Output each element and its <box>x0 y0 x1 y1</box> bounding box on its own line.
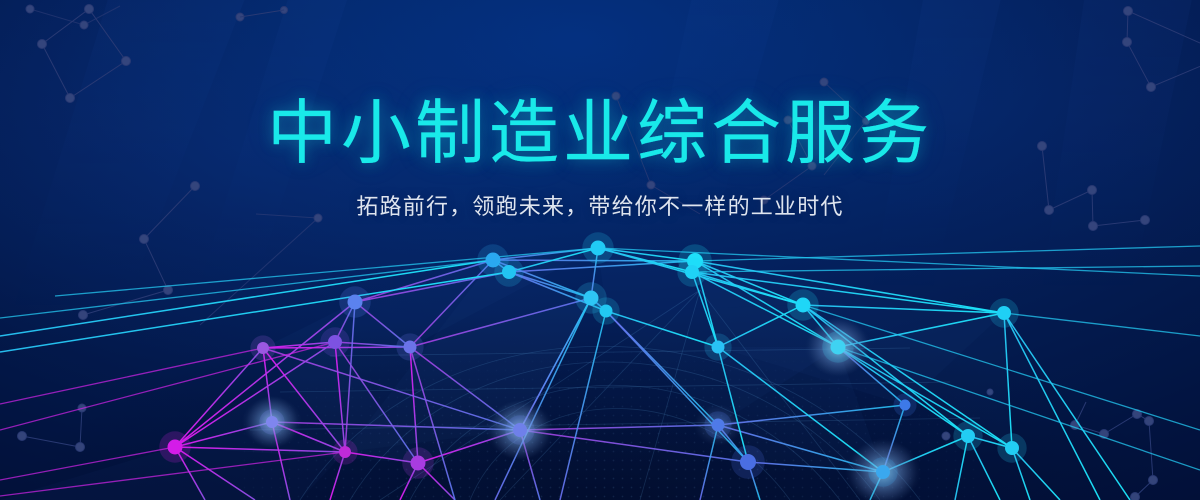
dome-node <box>900 400 911 411</box>
dome-node <box>685 265 699 279</box>
wireframe-dome-network <box>0 0 1200 500</box>
dome-node <box>740 454 756 470</box>
dome-node <box>997 306 1011 320</box>
dome-node <box>411 456 426 471</box>
dome-node <box>339 446 351 458</box>
dome-node <box>502 265 516 279</box>
dome-node <box>257 342 269 354</box>
dome-node <box>796 298 811 313</box>
dome-node <box>961 429 975 443</box>
dome-node <box>404 341 417 354</box>
dome-node <box>600 305 613 318</box>
dome-node <box>513 423 527 437</box>
dome-node <box>712 419 725 432</box>
dome-node <box>1005 441 1019 455</box>
dome-node <box>328 335 342 349</box>
banner-root: 中小制造业综合服务 拓路前行，领跑未来，带给你不一样的工业时代 <box>0 0 1200 500</box>
dome-node <box>831 340 846 355</box>
dome-node <box>348 295 363 310</box>
dome-node <box>168 440 183 455</box>
dome-node <box>712 341 725 354</box>
dome-node <box>591 241 606 256</box>
dome-node <box>876 465 890 479</box>
dome-node <box>266 416 278 428</box>
